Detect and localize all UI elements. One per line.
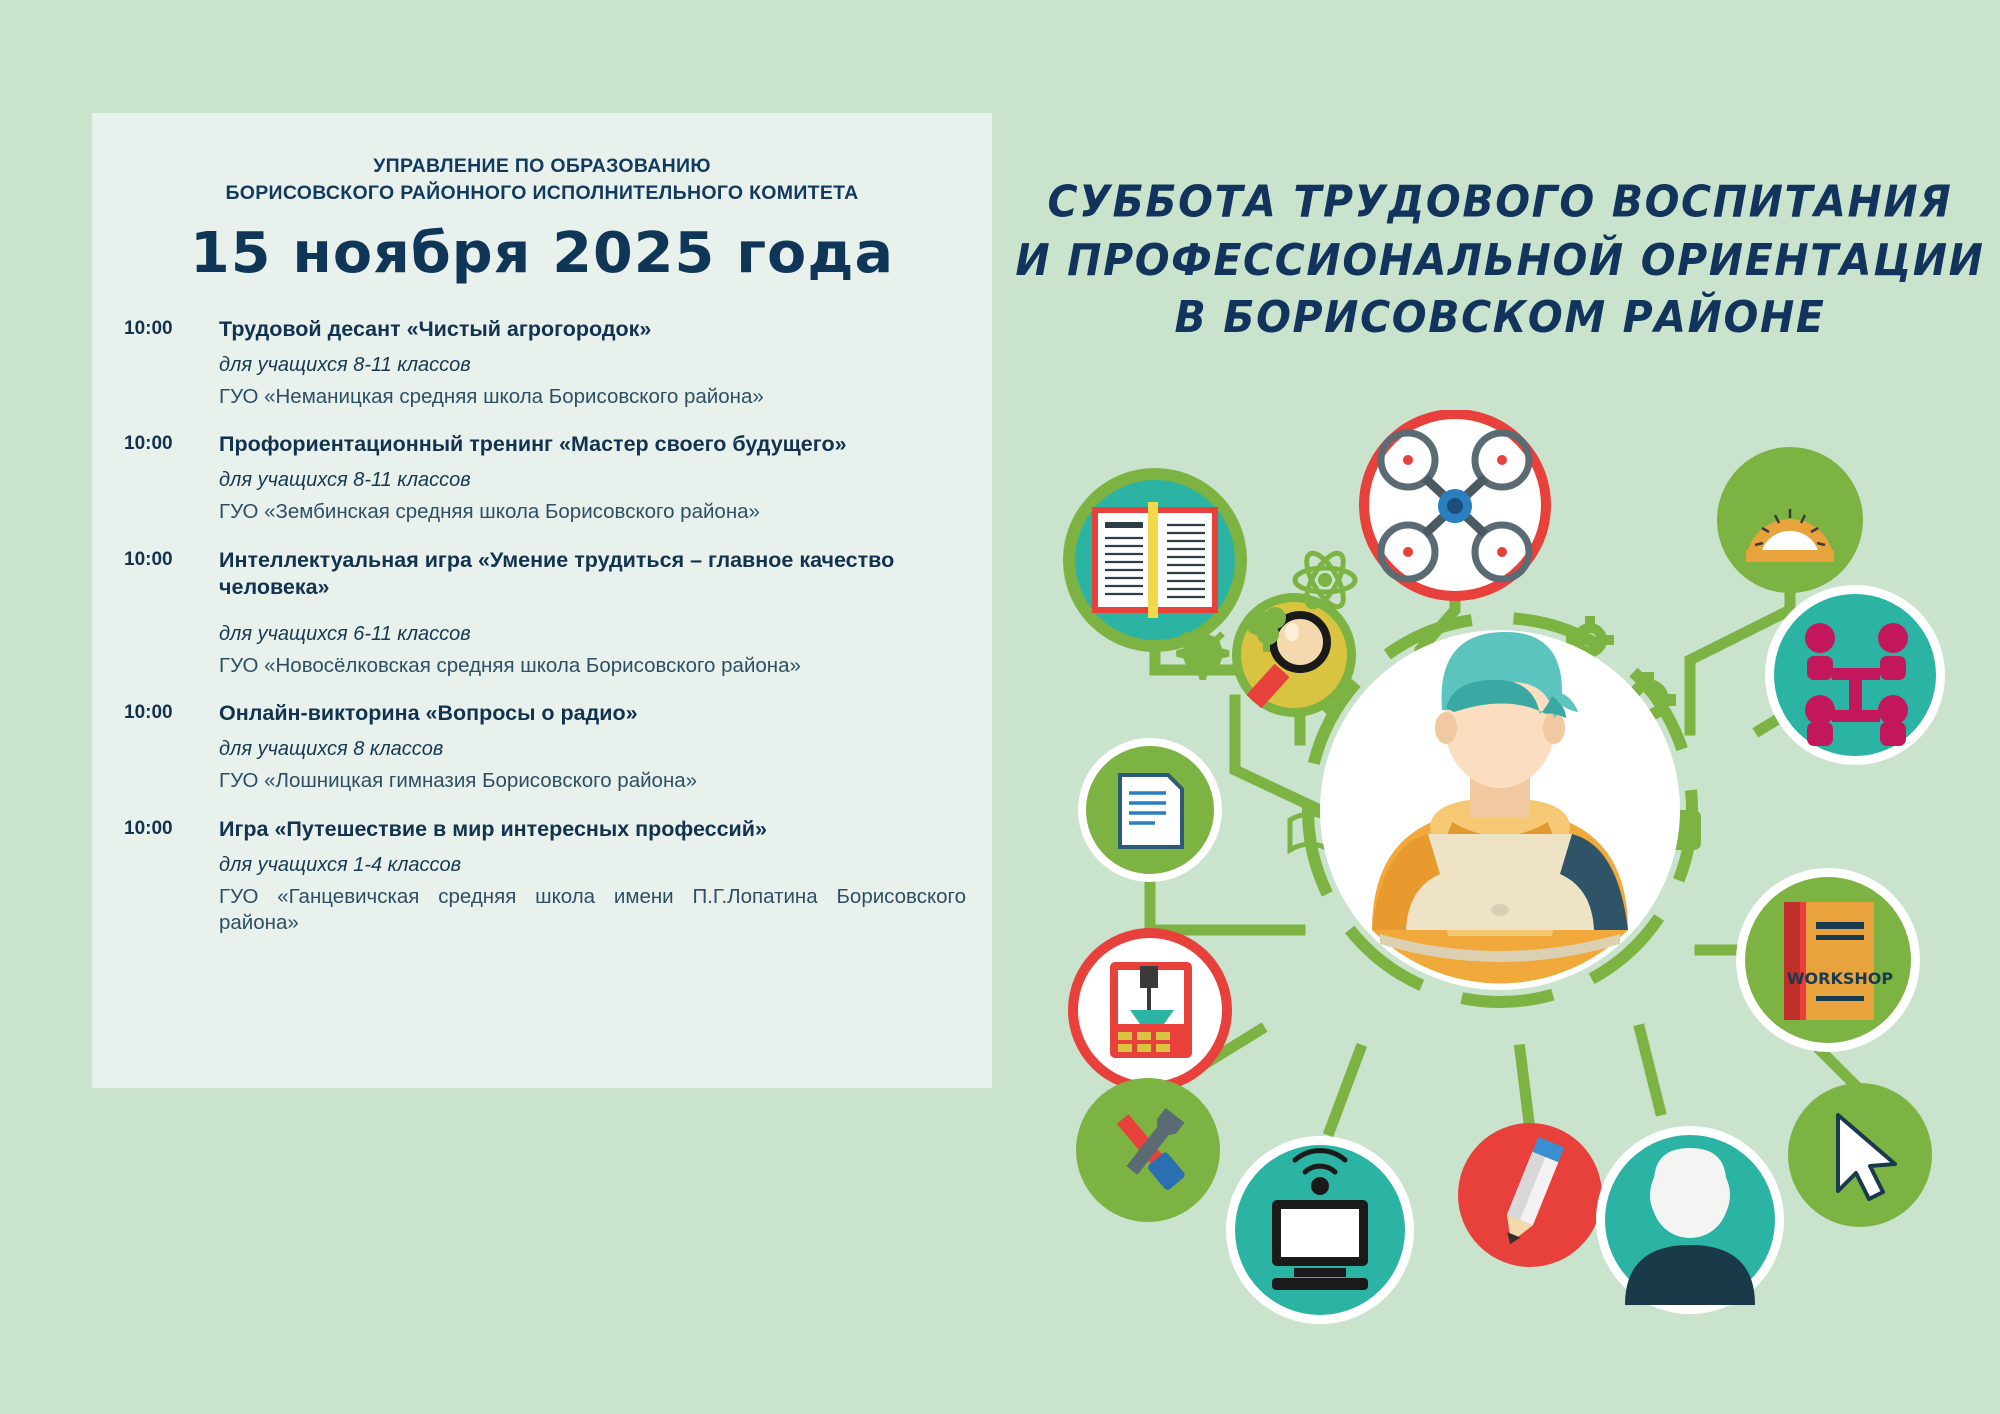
gear-icon <box>1176 627 1229 680</box>
event-date: 15 ноября 2025 года <box>83 221 1001 286</box>
event-title: Игра «Путешествие в мир интересных профе… <box>219 816 966 843</box>
event-grades: для учащихся 8 классов <box>219 736 966 762</box>
illustration-panel: СУББОТА ТРУДОВОГО ВОСПИТАНИЯ И ПРОФЕССИО… <box>1000 0 2000 1414</box>
event-school: ГУО «Неманицкая средняя школа Борисовско… <box>219 384 966 411</box>
event-grades: для учащихся 6-11 классов <box>219 621 966 647</box>
event-time: 10:00 <box>116 700 219 795</box>
schedule-item: 10:00 Профориентационный тренинг «Мастер… <box>116 431 966 526</box>
event-title: Профориентационный тренинг «Мастер своег… <box>219 431 966 458</box>
cursor-icon <box>1788 1083 1932 1227</box>
student-with-laptop <box>1320 630 1680 990</box>
event-title: Онлайн-викторина «Вопросы о радио» <box>219 700 966 727</box>
open-book-icon <box>1063 468 1247 652</box>
pencil-icon <box>1458 1123 1602 1267</box>
organization-line-2: БОРИСОВСКОГО РАЙОННОГО ИСПОЛНИТЕЛЬНОГО К… <box>92 180 992 207</box>
event-school: ГУО «Зембинская средняя школа Борисовско… <box>219 499 966 526</box>
headline-line-2: И ПРОФЕССИОНАЛЬНОЙ ОРИЕНТАЦИИ <box>1000 231 2000 289</box>
workshop-book-label: WORKSHOP <box>1787 969 1893 988</box>
headline-line-3: В БОРИСОВСКОМ РАЙОНЕ <box>1000 289 2000 347</box>
event-grades: для учащихся 1-4 классов <box>219 852 966 878</box>
people-network-icon <box>1765 585 1945 765</box>
computer-wifi-icon <box>1226 1136 1414 1324</box>
event-time: 10:00 <box>116 547 219 679</box>
document-icon <box>1078 738 1222 882</box>
event-time: 10:00 <box>116 816 219 937</box>
3d-printer-icon <box>1068 928 1232 1092</box>
event-grades: для учащихся 8-11 классов <box>219 352 966 378</box>
poster-headline: СУББОТА ТРУДОВОГО ВОСПИТАНИЯ И ПРОФЕССИО… <box>1000 173 2000 346</box>
event-title: Интеллектуальная игра «Умение трудиться … <box>219 547 966 601</box>
event-time: 10:00 <box>116 431 219 526</box>
schedule-item: 10:00 Онлайн-викторина «Вопросы о радио»… <box>116 700 966 795</box>
schedule-item: 10:00 Интеллектуальная игра «Умение труд… <box>116 547 966 679</box>
schedule-item: 10:00 Игра «Путешествие в мир интересных… <box>116 816 966 937</box>
workshop-book-icon: WORKSHOP <box>1736 868 1920 1052</box>
event-school: ГУО «Лошницкая гимназия Борисовского рай… <box>219 768 966 795</box>
ruler-protractor-icon <box>1717 447 1863 593</box>
event-time: 10:00 <box>116 316 219 411</box>
event-school: ГУО «Новосёлковская средняя школа Борисо… <box>219 653 966 680</box>
headline-line-1: СУББОТА ТРУДОВОГО ВОСПИТАНИЯ <box>1000 173 2000 231</box>
poster: УПРАВЛЕНИЕ ПО ОБРАЗОВАНИЮ БОРИСОВСКОГО Р… <box>0 0 2000 1414</box>
event-grades: для учащихся 8-11 классов <box>219 467 966 493</box>
schedule-list: 10:00 Трудовой десант «Чистый агрогородо… <box>92 316 992 937</box>
tools-icon <box>1076 1078 1220 1222</box>
drone-icon <box>1359 410 1551 601</box>
schedule-panel: УПРАВЛЕНИЕ ПО ОБРАЗОВАНИЮ БОРИСОВСКОГО Р… <box>92 113 992 1088</box>
career-network-illustration: WORKSHOP <box>1000 410 2000 1410</box>
person-avatar-icon <box>1596 1126 1784 1355</box>
organization-line-1: УПРАВЛЕНИЕ ПО ОБРАЗОВАНИЮ <box>92 153 992 180</box>
organization-header: УПРАВЛЕНИЕ ПО ОБРАЗОВАНИЮ БОРИСОВСКОГО Р… <box>92 113 992 207</box>
event-title: Трудовой десант «Чистый агрогородок» <box>219 316 966 343</box>
schedule-item: 10:00 Трудовой десант «Чистый агрогородо… <box>116 316 966 411</box>
event-school: ГУО «Ганцевичская средняя школа имени П.… <box>219 884 966 937</box>
